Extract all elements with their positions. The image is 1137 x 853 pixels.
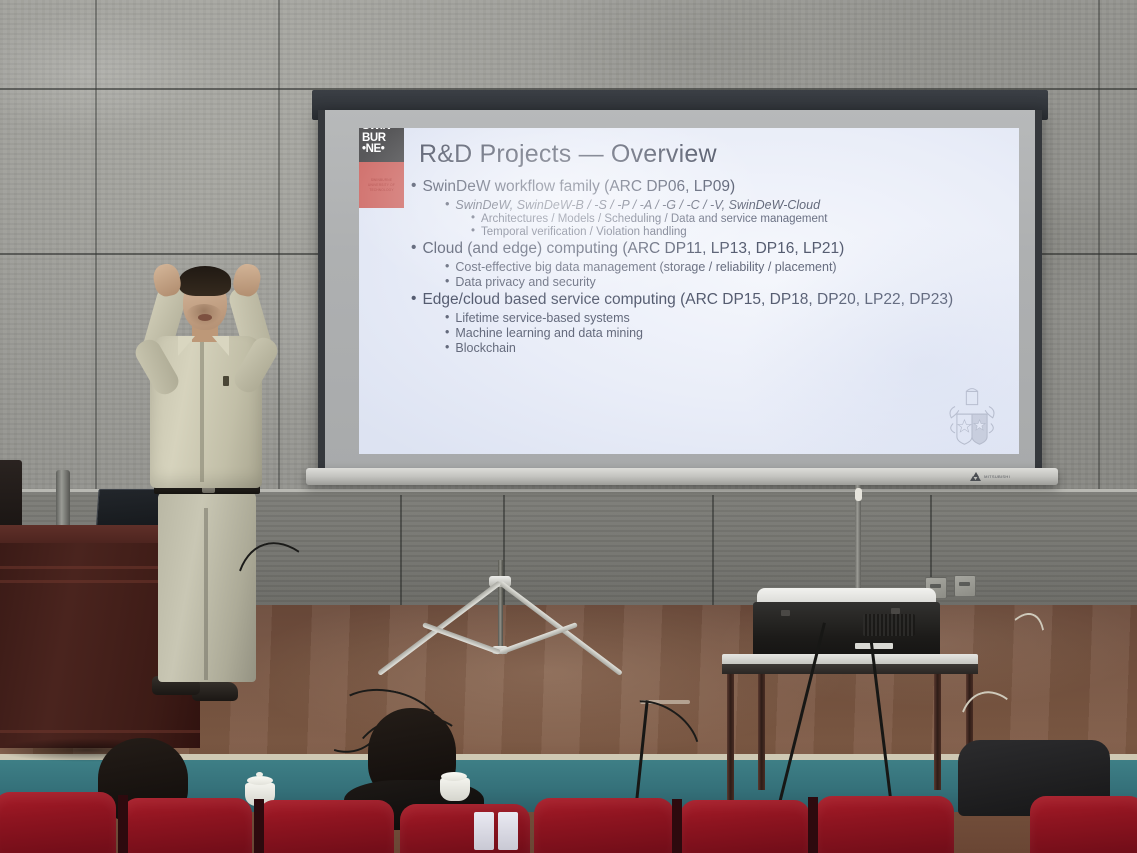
slide-surface: SWIN BUR •NE• SWINBURNE UNIVERSITY OF TE… — [359, 128, 1019, 454]
mouth — [198, 314, 212, 321]
bullet-glyph: • — [445, 260, 449, 273]
lectern-moulding — [0, 730, 200, 733]
bullet-item: •Machine learning and data mining — [411, 326, 1009, 340]
microphone[interactable] — [56, 470, 70, 525]
bullet-item: •Architectures / Models / Scheduling / D… — [411, 213, 1009, 225]
bullet-item: •Cost-effective big data management (sto… — [411, 260, 1009, 274]
tripod-pole — [498, 560, 503, 648]
bullet-glyph: • — [471, 226, 475, 238]
shirt-collar-left — [178, 336, 195, 356]
audience-seat[interactable] — [680, 800, 810, 853]
seat-divider — [118, 795, 128, 853]
swin-sub-2: UNIVERSITY OF — [368, 183, 395, 187]
slide-title: R&D Projects — Overview — [419, 140, 717, 169]
audience-seat[interactable] — [1030, 796, 1137, 853]
seat-number-panel — [498, 812, 518, 850]
bullet-glyph: • — [411, 291, 416, 307]
presentation-photo-scene: SWIN BUR •NE• SWINBURNE UNIVERSITY OF TE… — [0, 0, 1137, 853]
wall-socket[interactable] — [954, 575, 976, 597]
audience-seat[interactable] — [122, 798, 252, 853]
wainscot-seam — [712, 495, 714, 607]
hair — [179, 266, 231, 296]
wainscot-seam — [400, 495, 402, 607]
audience-seat[interactable] — [0, 792, 116, 853]
bullet-text: Data privacy and security — [455, 275, 595, 289]
presenter-right-hand — [231, 262, 263, 299]
bullet-glyph: • — [445, 341, 449, 354]
bullet-text: Machine learning and data mining — [455, 326, 643, 340]
swinburne-red-block: SWINBURNE UNIVERSITY OF TECHNOLOGY — [359, 162, 404, 208]
mitsubishi-logo-icon: MITSUBISHI — [970, 472, 1010, 481]
bullet-item: •SwinDeW workflow family (ARC DP06, LP09… — [411, 178, 1009, 196]
audience-seat[interactable] — [816, 796, 954, 853]
mitsubishi-brand-text: MITSUBISHI — [984, 474, 1010, 479]
bullet-item: •Blockchain — [411, 341, 1009, 355]
screen-pull-knob — [855, 488, 862, 501]
bullet-glyph: • — [471, 213, 475, 225]
bullet-item: •SwinDeW, SwinDeW-B / -S / -P / -A / -G … — [411, 198, 1009, 212]
bullet-glyph: • — [445, 311, 449, 324]
shirt-placket — [200, 342, 204, 482]
crest-leaf — [958, 420, 971, 432]
bullet-glyph: • — [411, 240, 416, 256]
shirt-collar-right — [212, 336, 229, 356]
swin-sub-3: TECHNOLOGY — [369, 188, 393, 192]
bullet-text: Edge/cloud based service computing (ARC … — [422, 291, 953, 309]
teacup — [440, 778, 470, 801]
bullet-item: •Data privacy and security — [411, 275, 1009, 289]
bullet-glyph: • — [445, 275, 449, 288]
bullet-text: Blockchain — [455, 341, 515, 355]
slide-bullet-list: •SwinDeW workflow family (ARC DP06, LP09… — [411, 176, 1009, 356]
swin-line-3: •NE• — [362, 144, 384, 155]
projection-screen: SWIN BUR •NE• SWINBURNE UNIVERSITY OF TE… — [318, 110, 1042, 475]
swinburne-wordmark: SWIN BUR •NE• — [359, 128, 404, 162]
teacup-lid — [247, 776, 273, 785]
bullet-text: Cost-effective big data management (stor… — [455, 260, 836, 274]
bullet-text: Architectures / Models / Scheduling / Da… — [481, 213, 827, 225]
bullet-item: •Edge/cloud based service computing (ARC… — [411, 291, 1009, 309]
bullet-text: Cloud (and edge) computing (ARC DP11, LP… — [422, 240, 844, 258]
chair-back — [0, 460, 22, 532]
seat-divider — [254, 799, 264, 853]
mitsubishi-mark-icon — [970, 472, 981, 481]
seat-divider — [808, 797, 818, 853]
projector-table-apron — [722, 664, 978, 674]
audience-seat[interactable] — [534, 798, 674, 853]
projector-port — [781, 610, 790, 616]
table-leg — [727, 668, 734, 802]
bullet-glyph: • — [445, 198, 449, 211]
shirt-pocket-pen — [223, 376, 229, 386]
bullet-text: SwinDeW workflow family (ARC DP06, LP09) — [422, 178, 735, 196]
seat-divider — [672, 799, 682, 853]
seat-number-panel — [474, 812, 494, 850]
swinburne-logo: SWIN BUR •NE• SWINBURNE UNIVERSITY OF TE… — [359, 128, 404, 220]
teacup-knob — [256, 772, 263, 777]
projector-vent — [863, 614, 915, 636]
trouser-seam — [204, 508, 208, 680]
audience-seat[interactable] — [258, 800, 394, 853]
teacup-lid — [441, 772, 467, 781]
university-crest-icon — [943, 382, 1001, 448]
bullet-text: Lifetime service-based systems — [455, 311, 629, 325]
projector-label — [855, 643, 893, 649]
wainscot-seam — [503, 495, 505, 607]
screen-bottom-bar: MITSUBISHI — [306, 468, 1058, 485]
bullet-text: Temporal verification / Violation handli… — [481, 226, 687, 238]
table-leg — [934, 668, 941, 790]
bullet-item: •Cloud (and edge) computing (ARC DP11, L… — [411, 240, 1009, 258]
bullet-text: SwinDeW, SwinDeW-B / -S / -P / -A / -G /… — [455, 198, 820, 212]
bullet-glyph: • — [411, 178, 416, 194]
table-leg — [758, 668, 765, 790]
swin-sub-1: SWINBURNE — [371, 178, 392, 182]
bullet-item: •Temporal verification / Violation handl… — [411, 226, 1009, 238]
bullet-glyph: • — [445, 326, 449, 339]
bullet-item: •Lifetime service-based systems — [411, 311, 1009, 325]
